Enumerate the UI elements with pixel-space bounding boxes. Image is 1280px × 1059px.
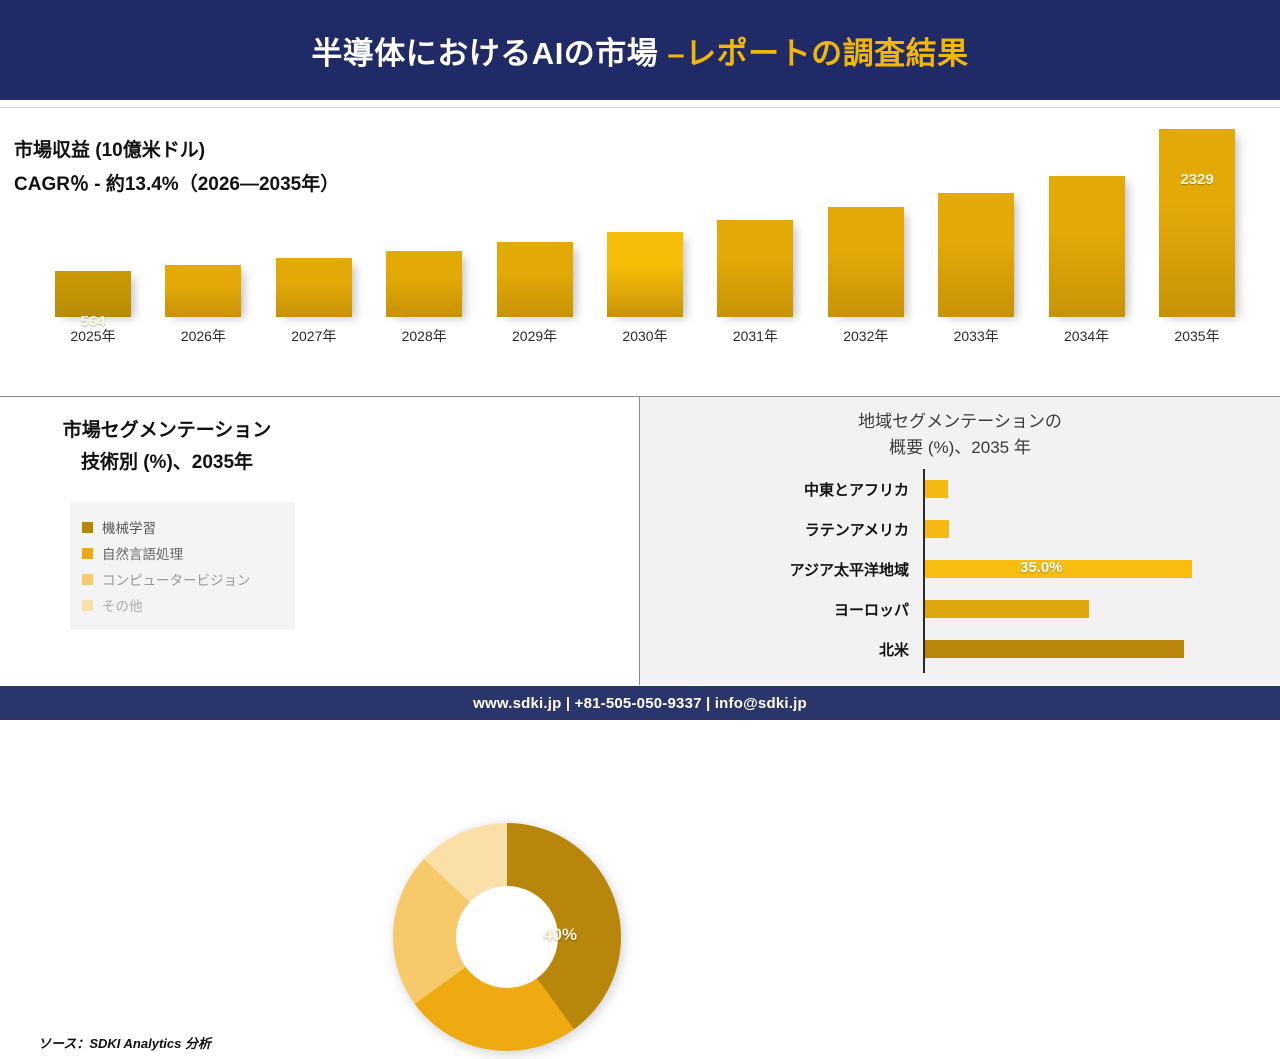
revenue-bar: 2026年 [165,265,241,317]
revenue-bar-column: 2032年 [828,207,904,317]
region-bar: 35.0% [925,560,1192,578]
revenue-bar-category-label: 2026年 [151,326,255,346]
revenue-bar-value-label: 2329 [1159,171,1235,188]
region-bar-value-label: 35.0% [1020,559,1063,576]
region-title-line2: 概要 (%)、2035 年 [640,435,1280,461]
legend-swatch-icon [82,522,93,533]
region-bar-row: ラテンアメリカ [640,509,1280,549]
revenue-bar: 23292035年 [1159,129,1235,317]
segmentation-title: 市場セグメンテーション 技術別 (%)、2035年 [22,415,312,479]
segmentation-title-line2: 技術別 (%)、2035年 [22,447,312,479]
region-bar-row: 中東とアフリカ [640,469,1280,509]
region-category-label: 北米 [640,639,917,660]
legend-swatch-icon [82,574,93,585]
region-bar [925,640,1184,658]
revenue-bars-plot: 5642025年2026年2027年2028年2029年2030年2031年20… [55,129,1235,351]
legend-item: 機械学習 [82,514,285,540]
revenue-bar-category-label: 2032年 [814,326,918,346]
region-category-label: 中東とアフリカ [640,479,917,500]
revenue-bar-category-label: 2034年 [1035,326,1139,346]
region-bar-wrapper [925,469,948,509]
revenue-bar-column: 2031年 [717,220,793,317]
source-note: ソース：SDKI Analytics 分析 [38,1033,211,1052]
revenue-bar-category-label: 2031年 [703,326,807,346]
donut-slice-label: 40% [543,925,577,945]
revenue-bar: 5642025年 [55,271,131,317]
footer-contact-text: www.sdki.jp | +81-505-050-9337 | info@sd… [473,695,807,712]
region-bar-row: ヨーロッパ [640,589,1280,629]
revenue-bar-column: 2027年 [276,258,352,317]
revenue-bar-column: 23292035年 [1159,129,1235,317]
region-bars-plot: 中東とアフリカラテンアメリカアジア太平洋地域35.0%ヨーロッパ北米 [640,469,1280,673]
revenue-bar-category-label: 2035年 [1145,326,1249,346]
revenue-bar: 2031年 [717,220,793,317]
page-title-main: 半導体におけるAIの市場 [311,36,658,71]
revenue-bar: 2032年 [828,207,904,317]
page-title: 半導体におけるAIの市場 –レポートの調査結果 [311,28,968,73]
revenue-bar-column: 2028年 [386,251,462,317]
region-bar [925,480,948,498]
region-bar-wrapper [925,589,1089,629]
region-bar-wrapper: 35.0% [925,549,1192,589]
region-category-label: ヨーロッパ [640,599,917,620]
technology-donut-chart: 40% [385,815,629,1059]
legend-item-label: その他 [102,595,143,615]
legend-swatch-icon [82,548,93,559]
legend-swatch-icon [82,600,93,611]
region-bar [925,600,1089,618]
revenue-bar-column: 2034年 [1049,176,1125,317]
legend-item-label: 自然言語処理 [102,543,183,563]
page-footer: www.sdki.jp | +81-505-050-9337 | info@sd… [0,686,1280,720]
revenue-bar-column: 2026年 [165,265,241,317]
region-bar-wrapper [925,509,949,549]
region-bar-wrapper [925,629,1184,669]
revenue-bar: 2033年 [938,193,1014,317]
legend-item: コンピュータービジョン [82,566,285,592]
region-title-line1: 地域セグメンテーションの [640,409,1280,435]
revenue-bar-column: 5642025年 [55,271,131,317]
revenue-bar-category-label: 2029年 [483,326,587,346]
revenue-bar-category-label: 2030年 [593,326,697,346]
legend-item-label: コンピュータービジョン [102,569,251,589]
regional-segmentation-section: 地域セグメンテーションの 概要 (%)、2035 年 中東とアフリカラテンアメリ… [640,397,1280,685]
region-title: 地域セグメンテーションの 概要 (%)、2035 年 [640,409,1280,461]
region-bar [925,520,949,538]
technology-segmentation-section: 市場セグメンテーション 技術別 (%)、2035年 機械学習自然言語処理コンピュ… [0,397,639,685]
page-header: 半導体におけるAIの市場 –レポートの調査結果 [0,0,1280,100]
region-category-label: ラテンアメリカ [640,519,917,540]
region-category-label: アジア太平洋地域 [640,559,917,580]
revenue-bar-category-label: 2033年 [924,326,1028,346]
revenue-bar-column: 2033年 [938,193,1014,317]
legend-item: 自然言語処理 [82,540,285,566]
revenue-bar: 2028年 [386,251,462,317]
header-underline [0,100,1280,108]
region-bar-row: アジア太平洋地域35.0% [640,549,1280,589]
segmentation-legend: 機械学習自然言語処理コンピュータービジョンその他 [70,502,295,630]
revenue-bar-category-label: 2025年 [41,326,145,346]
revenue-bar-category-label: 2028年 [372,326,476,346]
revenue-bar: 2034年 [1049,176,1125,317]
revenue-bar-column: 2029年 [497,242,573,317]
revenue-bar-category-label: 2027年 [262,326,366,346]
revenue-bar-column: 2030年 [607,232,683,317]
page-title-accent: –レポートの調査結果 [658,36,968,71]
legend-item: その他 [82,592,285,618]
revenue-bar: 2029年 [497,242,573,317]
segmentation-title-line1: 市場セグメンテーション [22,415,312,447]
revenue-bar: 2027年 [276,258,352,317]
revenue-chart-section: 市場収益 (10億米ドル) CAGR％ - 約13.4%（2026―2035年）… [0,109,1280,397]
region-bar-row: 北米 [640,629,1280,669]
revenue-bar: 2030年 [607,232,683,317]
legend-item-label: 機械学習 [102,517,156,537]
